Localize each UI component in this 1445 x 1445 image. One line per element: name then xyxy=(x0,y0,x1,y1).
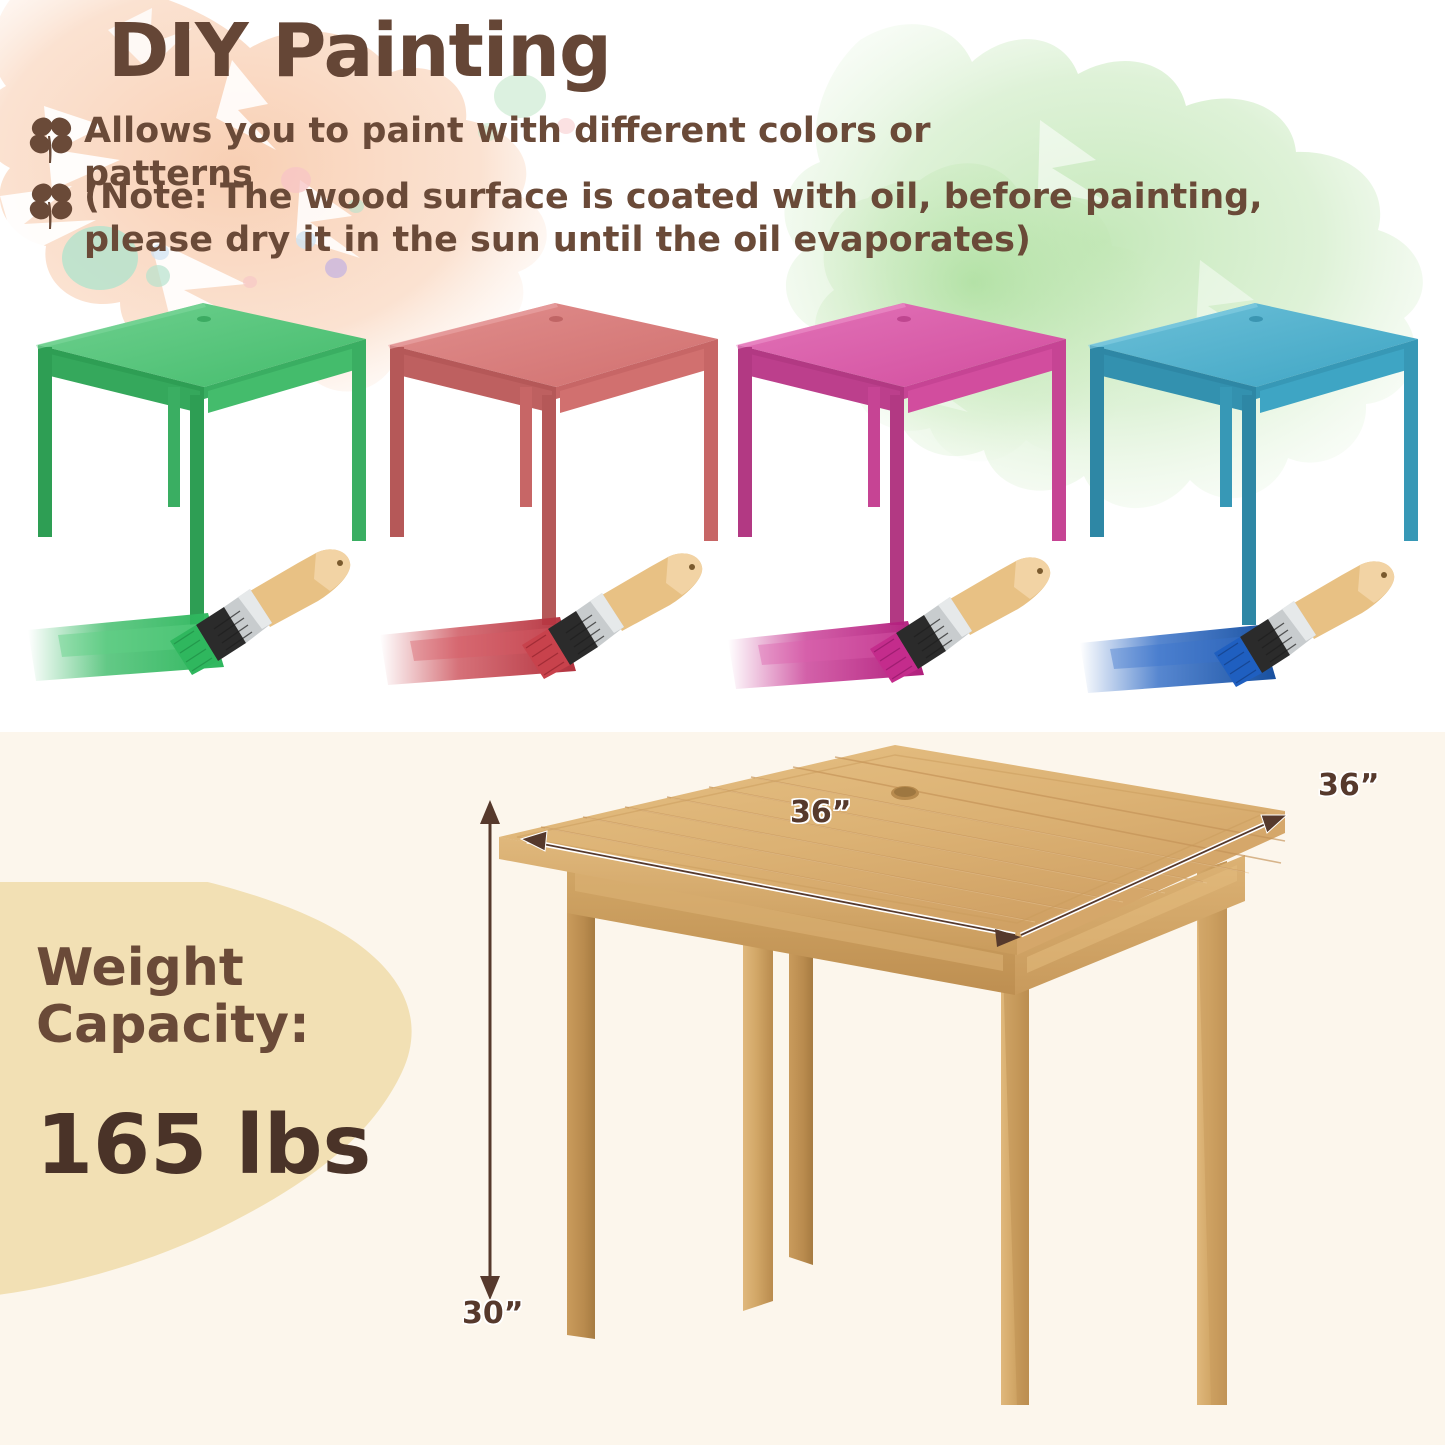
painted-table-blue xyxy=(1080,295,1440,715)
feature-bullet-2-text: (Note: The wood surface is coated with o… xyxy=(84,176,1348,262)
painted-table-coral xyxy=(380,295,740,715)
dimension-label-front: 36” xyxy=(790,795,851,830)
painted-table-green xyxy=(28,295,388,715)
four-leaf-clover-icon xyxy=(28,180,74,230)
product-table-illustration xyxy=(455,745,1335,1405)
painted-tables-row xyxy=(0,295,1445,715)
infographic-root: DIY Painting Allows you to paint with di… xyxy=(0,0,1445,1445)
feature-bullet-2: (Note: The wood surface is coated with o… xyxy=(28,176,1348,262)
dimension-label-side: 36” xyxy=(1318,768,1379,803)
four-leaf-clover-icon xyxy=(28,114,74,164)
dimension-line-height xyxy=(470,800,510,1300)
weight-capacity-label: Weight Capacity: xyxy=(36,940,310,1054)
page-title: DIY Painting xyxy=(108,8,611,94)
diy-painting-section: DIY Painting Allows you to paint with di… xyxy=(0,0,1445,732)
paint-brush xyxy=(1214,561,1394,687)
dimension-label-height: 30” xyxy=(462,1296,523,1331)
painted-table-pink xyxy=(728,295,1088,715)
weight-capacity-value: 165 lbs xyxy=(36,1098,371,1193)
